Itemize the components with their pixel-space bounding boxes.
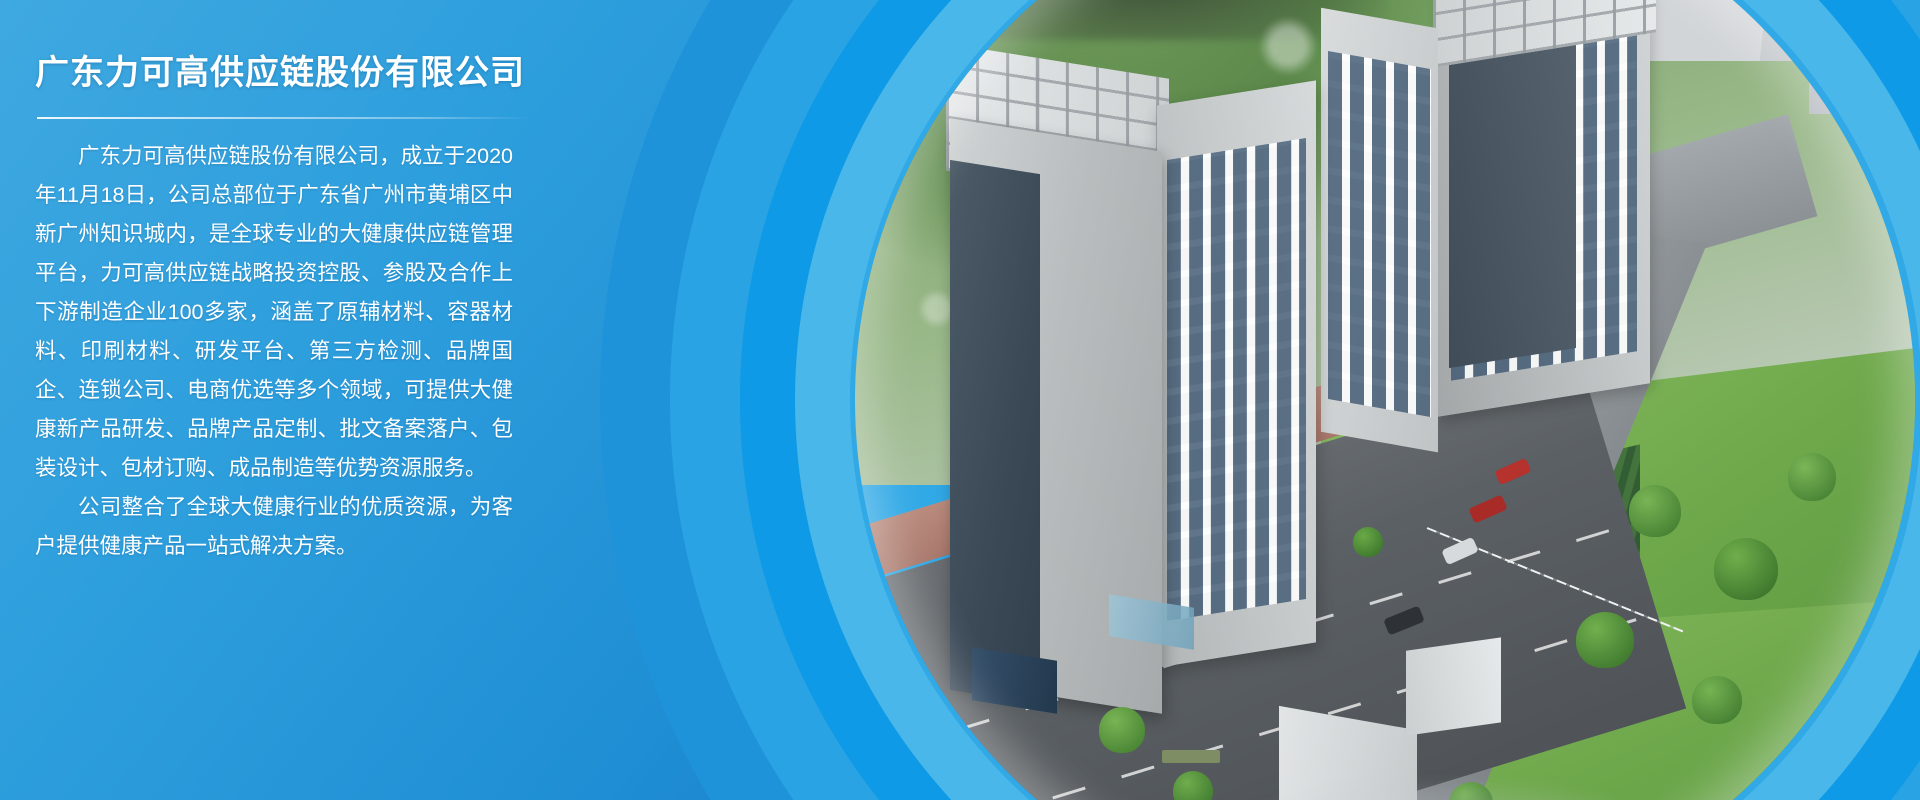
company-title: 广东力可高供应链股份有限公司 <box>35 52 700 95</box>
description-paragraph-1: 广东力可高供应链股份有限公司，成立于2020年11月18日，公司总部位于广东省广… <box>35 137 513 488</box>
company-profile-banner: 广东力可高供应链股份有限公司 广东力可高供应链股份有限公司，成立于2020年11… <box>0 0 1920 800</box>
description-paragraph-2: 公司整合了全球大健康行业的优质资源，为客户提供健康产品一站式解决方案。 <box>35 488 513 566</box>
text-panel: 广东力可高供应链股份有限公司 广东力可高供应链股份有限公司，成立于2020年11… <box>0 0 700 800</box>
distant-building-3 <box>1809 0 1915 114</box>
campus-photo-disc <box>855 0 1915 800</box>
disc-edge-fade <box>855 0 1915 800</box>
title-divider <box>37 117 529 119</box>
company-description: 广东力可高供应链股份有限公司，成立于2020年11月18日，公司总部位于广东省广… <box>35 137 513 566</box>
